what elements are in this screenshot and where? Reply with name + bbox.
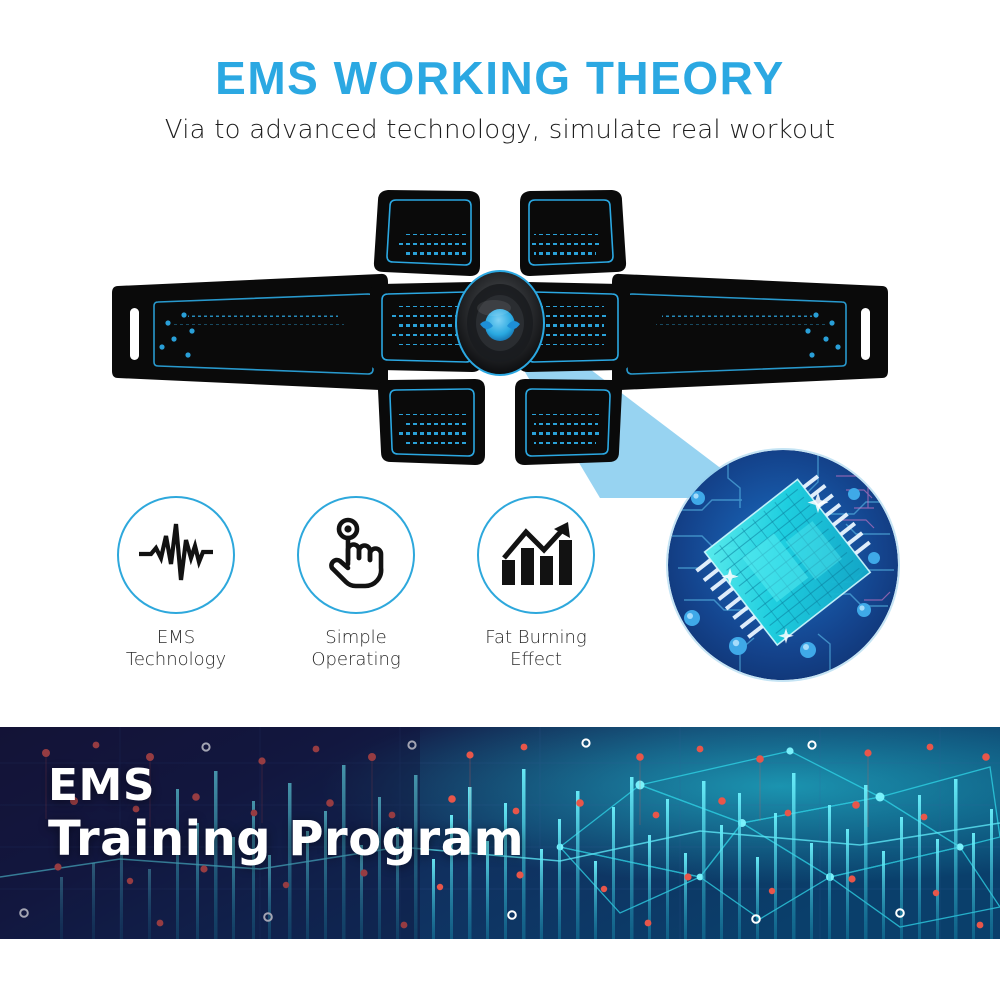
header: EMS WORKING THEORY Via to advanced techn… xyxy=(0,52,1000,146)
power-button xyxy=(456,271,544,375)
feature-item-simple-operating: Simple Operating xyxy=(266,496,446,671)
pad-top-left xyxy=(374,190,480,276)
feature-item-fat-burning: Fat Burning Effect xyxy=(446,496,626,671)
banner-heading: EMS Training Program xyxy=(48,761,524,867)
feature-icon-circle xyxy=(477,496,595,614)
product-hero-image xyxy=(0,168,1000,498)
pad-top-right xyxy=(520,190,626,276)
left-wing-strap xyxy=(112,274,388,390)
product-infographic: EMS WORKING THEORY Via to advanced techn… xyxy=(0,0,1000,1000)
feature-icon-circle xyxy=(297,496,415,614)
feature-icon-circle xyxy=(117,496,235,614)
circuit-board-closeup xyxy=(668,450,898,680)
page-subtitle: Via to advanced technology, simulate rea… xyxy=(0,114,1000,146)
touch-hand-icon xyxy=(325,516,387,595)
right-wing-strap xyxy=(612,274,888,390)
pad-bottom-left xyxy=(378,379,485,465)
bottom-banner: EMS Training Program xyxy=(0,727,1000,939)
feature-item-ems-technology: EMS Technology xyxy=(86,496,266,671)
feature-label: Fat Burning Effect xyxy=(446,627,626,671)
feature-list: EMS Technology xyxy=(86,496,626,686)
page-title: EMS WORKING THEORY xyxy=(0,52,1000,104)
bar-chart-arrow-icon xyxy=(498,518,574,593)
waveform-icon xyxy=(137,518,215,593)
strap-slot-right xyxy=(861,308,870,360)
banner-line-2: Training Program xyxy=(48,811,524,867)
pad-bottom-right xyxy=(515,379,622,465)
feature-label: EMS Technology xyxy=(86,627,266,671)
strap-slot-left xyxy=(130,308,139,360)
feature-label: Simple Operating xyxy=(266,627,446,671)
banner-line-1: EMS xyxy=(48,761,524,811)
